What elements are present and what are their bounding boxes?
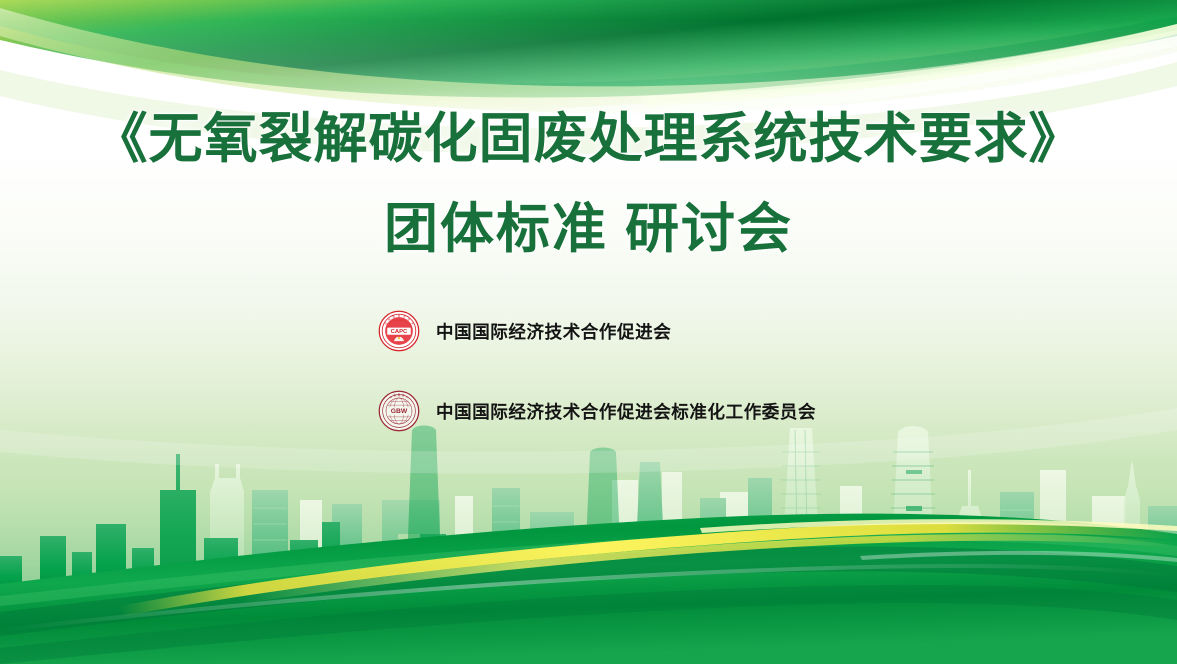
organization-name-capc: 中国国际经济技术合作促进会	[436, 319, 671, 344]
svg-text:CAPC: CAPC	[391, 329, 408, 335]
skyline-front-silhouette	[0, 454, 1090, 590]
organization-row-gbw: GBW 标 准 化 工 作 委 员 会 中国国际经济技术合作促进会标准化工作委员…	[378, 388, 816, 434]
organization-row-capc: 中 国 际 经 济 技 术 CAPC 中国国际经济技术合作促进会	[378, 308, 816, 354]
skyline-light-towers	[210, 426, 1140, 590]
svg-text:GBW: GBW	[391, 408, 408, 415]
skyline-back-layer	[300, 470, 1126, 590]
page-title: 《无氧裂解碳化固废处理系统技术要求》	[0, 108, 1177, 172]
organization-name-gbw: 中国国际经济技术合作促进会标准化工作委员会	[436, 399, 816, 424]
gbw-seal-icon: GBW 标 准 化 工 作 委 员 会	[378, 390, 420, 432]
skyline-mid-layer	[252, 462, 1177, 590]
page-subtitle: 团体标准 研讨会	[0, 198, 1177, 262]
title-block: 《无氧裂解碳化固废处理系统技术要求》 团体标准 研讨会	[0, 108, 1177, 261]
bottom-green-band	[0, 514, 1177, 664]
skyline-window-lines	[253, 506, 1033, 558]
presentation-slide: 《无氧裂解碳化固废处理系统技术要求》 团体标准 研讨会 中 国 际 经 济	[0, 0, 1177, 664]
organization-list: 中 国 际 经 济 技 术 CAPC 中国国际经济技术合作促进会	[378, 308, 816, 434]
skyline-landmarks	[406, 426, 622, 591]
capc-seal-icon: 中 国 际 经 济 技 术 CAPC	[378, 310, 420, 352]
